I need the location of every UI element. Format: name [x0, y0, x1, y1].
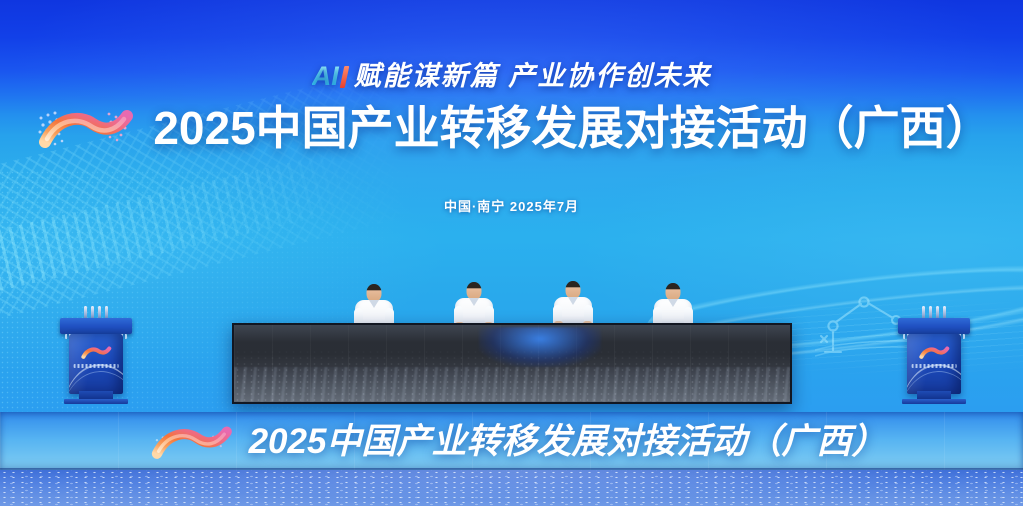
event-datestamp: 中国·南宁 2025年7月 [0, 196, 1023, 215]
podium-base [902, 399, 965, 404]
banner-content: 2025中国产业转移发展对接活动（广西） [0, 412, 1023, 470]
podium-base [64, 399, 127, 404]
floor-reflection [0, 470, 1023, 506]
podium-top-plate [60, 318, 132, 334]
bottom-led-banner: 2025中国产业转移发展对接活动（广西） [0, 412, 1023, 470]
led-activation-console [232, 323, 792, 404]
stage-floor [0, 470, 1023, 506]
podium-body [69, 334, 122, 394]
title-row: 2025中国产业转移发展对接活动（广西） [0, 96, 1023, 160]
tagline-text: 赋能谋新篇 产业协作创未来 [354, 61, 712, 91]
podium-foot [79, 391, 114, 399]
person-3 [552, 281, 594, 329]
podium-left [60, 306, 132, 404]
page-title: 2025中国产业转移发展对接活动（广西） [153, 105, 991, 151]
podium-foot [917, 391, 952, 399]
event-ribbon-logo-icon [31, 96, 139, 160]
stage-photo: AI赋能谋新篇 产业协作创未来 [0, 0, 1023, 506]
event-tagline: AI赋能谋新篇 产业协作创未来 [0, 54, 1023, 93]
podium-top-plate [898, 318, 970, 334]
banner-title: 2025中国产业转移发展对接活动（广西） [249, 424, 887, 459]
console-audience-reflection [234, 325, 790, 402]
event-ribbon-logo-icon [145, 418, 237, 464]
podium-body [907, 334, 960, 394]
podium-right [898, 306, 970, 404]
ai-wordmark: AI [312, 61, 341, 91]
